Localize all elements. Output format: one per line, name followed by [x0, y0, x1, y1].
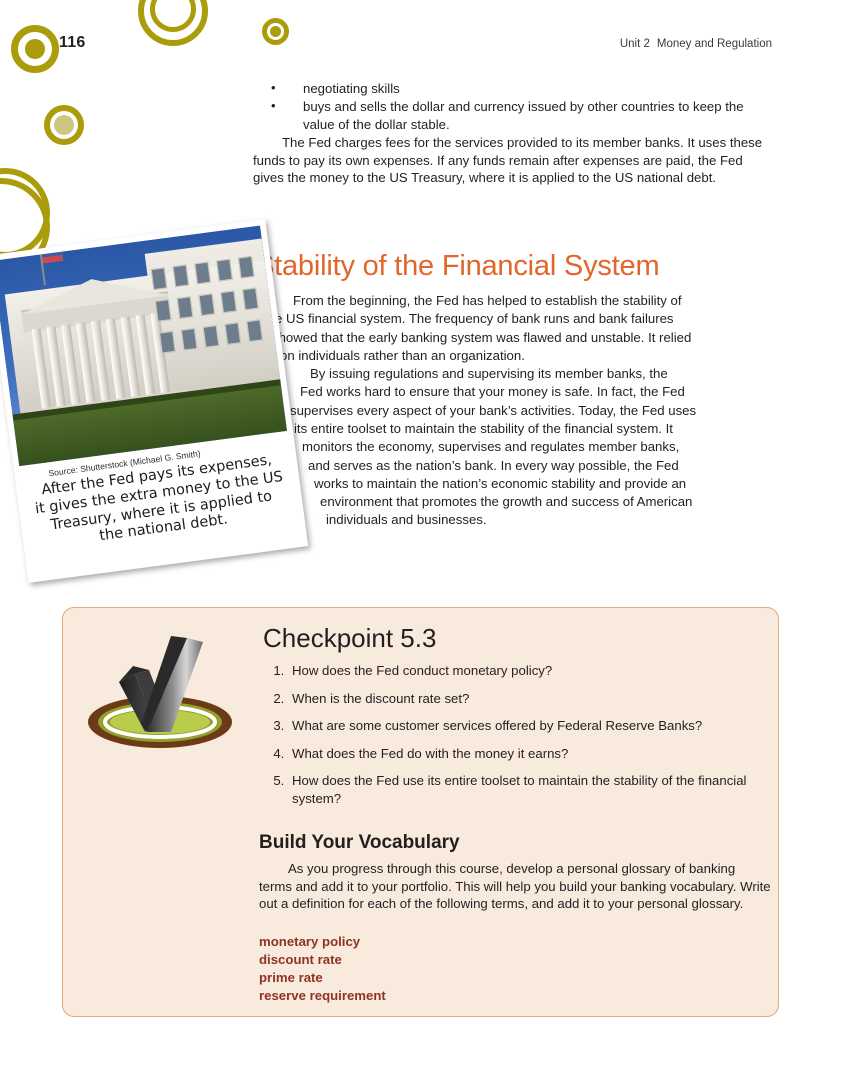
vocabulary-term: reserve requirement: [259, 987, 386, 1005]
vocabulary-term: discount rate: [259, 951, 386, 969]
build-vocabulary-title: Build Your Vocabulary: [259, 832, 460, 854]
bullet-text: negotiating skills: [303, 81, 400, 96]
checkmark-svg: [75, 620, 245, 760]
list-item: •buys and sells the dollar and currency …: [253, 98, 769, 133]
running-head-title: Money and Regulation: [657, 38, 772, 50]
vocabulary-term-list: monetary policy discount rate prime rate…: [259, 933, 386, 1005]
checkpoint-title: Checkpoint 5.3: [263, 625, 436, 651]
running-head-unit: Unit 2: [620, 38, 650, 50]
photo-figure: Source: Shutterstock (Michael G. Smith) …: [0, 210, 317, 594]
deco-dot-light-icon: [54, 115, 74, 135]
bullet-list: •negotiating skills •buys and sells the …: [253, 80, 769, 133]
list-item: When is the discount rate set?: [288, 690, 793, 708]
page-number: 116: [59, 34, 85, 52]
bullet-icon: •: [271, 97, 276, 114]
list-item: What does the Fed do with the money it e…: [288, 745, 793, 763]
building-windows: [151, 255, 276, 388]
list-item: How does the Fed conduct monetary policy…: [288, 662, 793, 680]
body-paragraph: As you progress through this course, dev…: [259, 860, 771, 913]
green-checkmark-icon: [75, 620, 245, 760]
list-item: •negotiating skills: [253, 80, 769, 97]
build-vocabulary-body: As you progress through this course, dev…: [259, 860, 771, 913]
section-heading: Stability of the Financial System: [255, 252, 659, 281]
bullet-text: buys and sells the dollar and currency i…: [303, 99, 744, 131]
vocabulary-term: monetary policy: [259, 933, 386, 951]
deco-dot-icon: [270, 26, 281, 37]
checkpoint-panel: Checkpoint 5.3 How does the Fed conduct …: [62, 607, 779, 1017]
running-head: Unit 2Money and Regulation: [620, 38, 772, 50]
photo-card: Source: Shutterstock (Michael G. Smith) …: [0, 219, 308, 583]
body-paragraph: The Fed charges fees for the services pr…: [253, 134, 769, 186]
textbook-page: 116 Unit 2Money and Regulation •negotiat…: [0, 0, 849, 1087]
checkpoint-question-list: How does the Fed conduct monetary policy…: [263, 662, 793, 817]
us-treasury-building-photo: [0, 226, 287, 466]
list-item: What are some customer services offered …: [288, 717, 793, 735]
bullet-icon: •: [271, 79, 276, 96]
list-item: How does the Fed use its entire toolset …: [288, 772, 793, 807]
deco-dot-icon: [25, 39, 45, 59]
top-text-column: •negotiating skills •buys and sells the …: [253, 80, 769, 187]
vocabulary-term: prime rate: [259, 969, 386, 987]
